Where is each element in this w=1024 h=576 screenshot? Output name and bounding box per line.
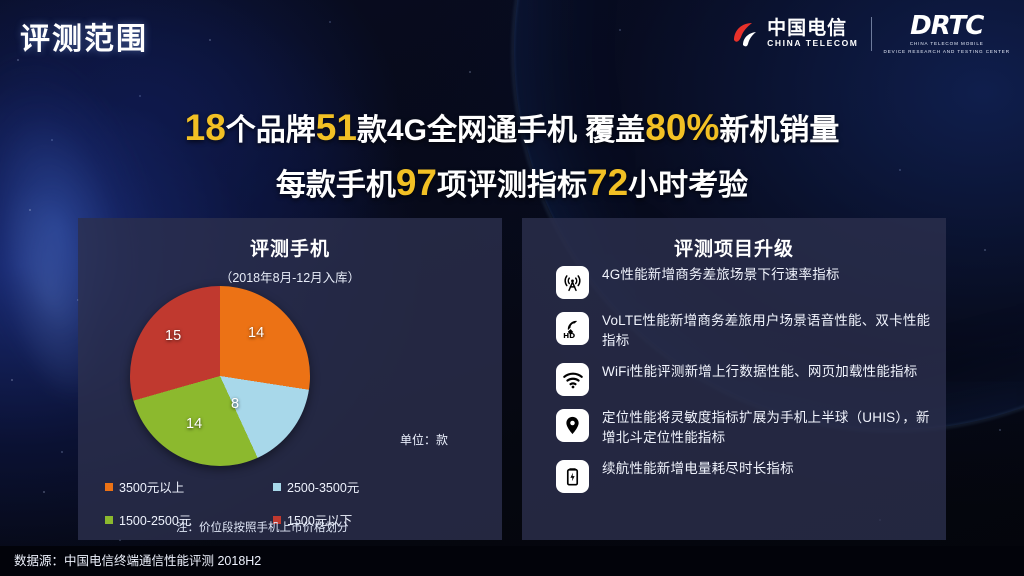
feature-text-volte: VoLTE性能新增商务差旅用户场景语音性能、双卡性能指标 [602,311,936,350]
headline1-coverage-pct: 80% [645,107,719,148]
drtc-subtitle-line1: CHINA TELECOM MOBILE [910,41,984,47]
pie-slice-value-1: 8 [231,396,239,412]
feature-text-4g: 4G性能新增商务差旅场景下行速率指标 [602,265,840,285]
chart-unit-label: 单位：款 [400,431,448,448]
feature-item-battery[interactable]: 续航性能新增电量耗尽时长指标 [556,459,936,493]
pie-slice-value-3: 15 [165,328,181,344]
headline2-prefix: 每款手机 [276,169,396,202]
drtc-wordmark: DRTC [910,13,983,39]
china-telecom-name-zh: 中国电信 [767,19,858,39]
feature-item-wifi[interactable]: WiFi性能评测新增上行数据性能、网页加载性能指标 [556,362,936,396]
legend-swatch-2 [105,516,113,524]
headline2-metrics-text: 项评测指标 [437,169,587,202]
china-telecom-mark-icon [730,19,760,49]
battery-icon [556,460,589,493]
legend-item-0[interactable]: 3500元以上 [105,477,267,496]
legend-swatch-0 [105,483,113,491]
headline-primary: 18个品牌51款4G全网通手机 覆盖80%新机销量 [0,105,1024,149]
pie-chart: 14 8 14 15 [130,286,310,466]
drtc-logo: DRTC CHINA TELECOM MOBILE DEVICE RESEARC… [884,13,1011,55]
chart-subtitle: （2018年8月-12月入库） [78,267,502,286]
wifi-icon [556,363,589,396]
legend-item-1[interactable]: 2500-3500元 [273,477,435,496]
pie-slice-value-0: 14 [248,325,264,341]
slide-canvas: 评测范围 中国电信 CHINA TELECOM DRTC CHINA TELEC… [0,0,1024,576]
pie-graphic [130,286,310,466]
china-telecom-name-en: CHINA TELECOM [767,39,858,48]
logo-divider [871,17,872,51]
headline1-models-count: 51 [316,107,357,148]
hd-voice-call-icon: HD [556,312,589,345]
features-title: 评测项目升级 [522,234,946,261]
chart-note: 注：价位段按照手机上市价格划分 [176,519,349,535]
legend-label-1: 2500-3500元 [287,477,359,496]
headline2-hours-count: 72 [587,162,628,203]
headline-secondary: 每款手机97项评测指标72小时考验 [0,160,1024,204]
feature-text-battery: 续航性能新增电量耗尽时长指标 [602,459,794,479]
legend-swatch-1 [273,483,281,491]
headline1-brands-count: 18 [185,107,226,148]
drtc-subtitle-line2: DEVICE RESEARCH AND TESTING CENTER [884,49,1011,55]
headline2-metrics-count: 97 [396,162,437,203]
china-telecom-logo: 中国电信 CHINA TELECOM [730,19,858,49]
legend-label-0: 3500元以上 [119,477,184,496]
feature-text-location: 定位性能将灵敏度指标扩展为手机上半球（UHIS），新增北斗定位性能指标 [602,408,936,447]
headline1-brands-text: 个品牌 [226,114,316,147]
logo-group: 中国电信 CHINA TELECOM DRTC CHINA TELECOM MO… [730,12,1010,56]
headline1-models-text: 款4G全网通手机 覆盖 [357,114,645,147]
cell-tower-icon [556,266,589,299]
chart-title: 评测手机 [78,234,502,261]
feature-text-wifi: WiFi性能评测新增上行数据性能、网页加载性能指标 [602,362,918,382]
headline2-hours-text: 小时考验 [628,169,748,202]
feature-item-volte[interactable]: HD VoLTE性能新增商务差旅用户场景语音性能、双卡性能指标 [556,311,936,350]
features-list: 4G性能新增商务差旅场景下行速率指标 HD VoLTE性能新增商务差旅用户场景语… [556,265,936,505]
feature-item-4g[interactable]: 4G性能新增商务差旅场景下行速率指标 [556,265,936,299]
feature-item-location[interactable]: 定位性能将灵敏度指标扩展为手机上半球（UHIS），新增北斗定位性能指标 [556,408,936,447]
footer-source-text: 数据源：中国电信终端通信性能评测 2018H2 [14,550,261,569]
page-title: 评测范围 [20,14,148,58]
pie-slice-value-2: 14 [186,416,202,432]
svg-text:HD: HD [563,331,575,340]
headline1-coverage-text: 新机销量 [719,114,839,147]
location-pin-icon [556,409,589,442]
